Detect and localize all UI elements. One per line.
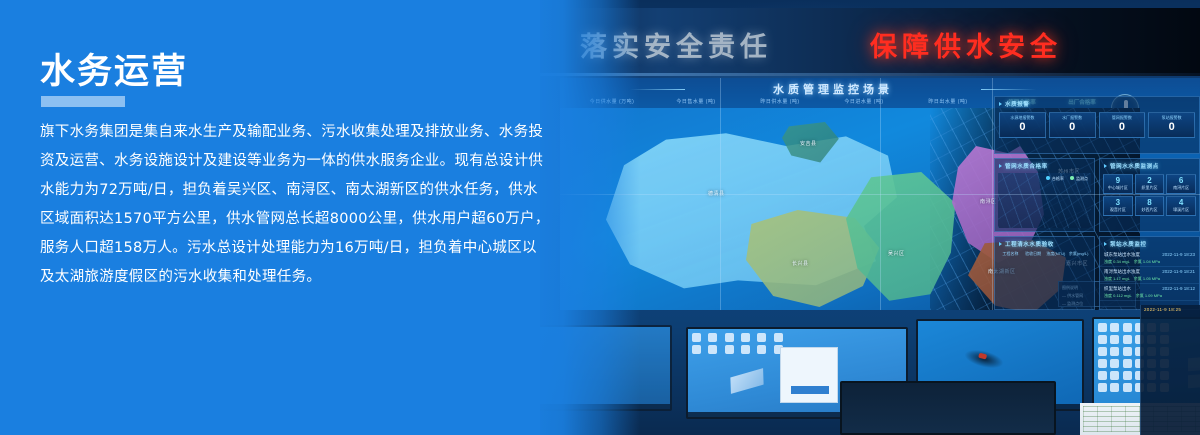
table-column: 浊度(NTU) [1045,251,1068,257]
cell-value: 4 [1167,198,1195,207]
map-label: 安吉县 [800,140,817,147]
alarm-card-value: 0 [1149,121,1194,134]
log-metric-2: 余氯 1.05 MPa [1134,276,1160,282]
banner-section: 落实安全责任 保障供水安全 水质管理监控场景 今日供水量 (万吨)— 今日售水量… [0,0,1200,435]
alarm-card-value: 0 [1050,121,1095,134]
cell-value: 8 [1136,198,1164,207]
map-label: 长兴县 [792,260,809,267]
kpi-label: 昨日供水量 (吨) [738,98,822,105]
kpi-label: 今日进水量 (吨) [822,98,906,105]
monitoring-point-cell[interactable]: 3观音片区 [1103,196,1133,216]
log-time: 2022-11-9 18:23 [1162,252,1195,258]
log-metric-1: 浊度 1.17 mgL [1104,276,1130,282]
table-column: 验收日期 [1022,251,1045,257]
panel-title: 管网水水质监测点 [1100,159,1199,172]
log-name: 织里泵站出水 [1104,286,1131,292]
panel-title: 泵站水质监控 [1100,237,1199,250]
cell-label: 南浔片区 [1167,185,1195,191]
laptop-screen [840,381,1056,435]
cell-value: 6 [1167,176,1195,185]
table-column: 工程名称 [999,251,1022,257]
map-label: 德清县 [708,190,725,197]
cell-label: 妙西片区 [1136,207,1164,213]
log-metric-2: 余氯 1.04 MPa [1134,259,1160,265]
desktop-icon-grid [692,333,788,354]
legend-label: 合格率 [1052,176,1064,181]
alarm-card-list: 水源地报警数0 水厂报警数0 管网报警数0 泵站报警数0 [995,110,1199,140]
alarm-card[interactable]: 水源地报警数0 [999,112,1046,138]
alarm-card[interactable]: 泵站报警数0 [1148,112,1195,138]
alarm-card-value: 0 [1100,121,1145,134]
cell-value: 3 [1104,198,1132,207]
banner-slogan-left: 落实安全责任 [580,25,772,64]
monitoring-point-cell[interactable]: 4埭溪片区 [1166,196,1196,216]
video-wall-dashboard: 水质管理监控场景 今日供水量 (万吨)— 今日售水量 (吨)— 昨日供水量 (吨… [560,78,1200,310]
monitoring-point-cell[interactable]: 8妙西片区 [1135,196,1165,216]
table-column: 余氯(mg/L) [1067,251,1090,257]
diver-wallpaper-icon [963,346,1006,371]
cell-label: 埭溪片区 [1167,207,1195,213]
panel-title: 管网水质合格率 [995,159,1094,172]
panel-title: 水质报警 [995,97,1199,110]
page-title: 水务运营 [40,52,188,92]
alarm-card-value: 0 [1000,121,1045,134]
legend-swatch [1070,176,1074,180]
panel-water-quality-alarm: 水质报警 水源地报警数0 水厂报警数0 管网报警数0 泵站报警数0 [994,96,1200,154]
panel-pump-station-monitor: 泵站水质监控 城东泵站出水浊度2022-11-9 18:23 浊度 0.34 m… [1099,236,1200,310]
control-room-photo: 落实安全责任 保障供水安全 水质管理监控场景 今日供水量 (万吨)— 今日售水量… [540,0,1200,435]
panel-project-acceptance: 工程清水水质验收 工程名称 验收日期 浊度(NTU) 余氯(mg/L) [994,236,1095,310]
cell-value: 2 [1136,176,1164,185]
title-underline [41,96,125,107]
table-header: 工程名称 验收日期 浊度(NTU) 余氯(mg/L) [995,250,1094,258]
dashboard-title: 水质管理监控场景 [688,81,978,97]
log-metric-1: 浊度 0.112 mgL [1104,293,1132,299]
kpi-label: 昨日出水量 (吨) [906,98,990,105]
panel-pipeline-pass-rate: 管网水质合格率 合格率 监测点 [994,158,1095,232]
text-column: 水务运营 旗下水务集团是集自来水生产及输配业务、污水收集处理及排放业务、水务投资… [0,0,600,435]
alarm-card[interactable]: 水厂报警数0 [1049,112,1096,138]
log-time: 2022-11-9 18:12 [1162,286,1195,292]
log-name: 南浔泵站出水浊度 [1104,269,1140,275]
log-name: 城东泵站出水浊度 [1104,252,1140,258]
dashboard-panels: 水质报警 水源地报警数0 水厂报警数0 管网报警数0 泵站报警数0 管网水质合格… [994,96,1200,310]
log-row[interactable]: 南浔泵站出水浊度2022-11-9 18:21 浊度 1.17 mgL余氯 1.… [1100,267,1199,284]
monitoring-point-grid: 9中心城片区 2织里片区 6南浔片区 3观音片区 8妙西片区 4埭溪片区 [1100,172,1199,218]
chart-legend: 合格率 监测点 [1041,176,1088,182]
log-metric-1: 浊度 0.34 mgL [1104,259,1130,265]
alarm-card[interactable]: 管网报警数0 [1099,112,1146,138]
kpi-label: 今日售水量 (吨) [654,98,738,105]
log-metric-2: 余氯 1.09 MPa [1136,293,1162,299]
log-time: 2022-11-9 18:21 [1162,269,1195,275]
body-paragraph: 旗下水务集团是集自来水生产及输配业务、污水收集处理及排放业务、水务投资及运营、水… [40,118,550,292]
log-row[interactable]: 城东泵站出水浊度2022-11-9 18:23 浊度 0.34 mgL余氯 1.… [1100,250,1199,267]
cell-label: 织里片区 [1136,185,1164,191]
app-logo-icon [730,368,763,394]
dialog-window[interactable] [780,347,838,403]
panel-monitoring-points: 管网水水质监测点 9中心城片区 2织里片区 6南浔片区 3观音片区 8妙西片区 … [1099,158,1200,232]
map-label: 吴兴区 [888,250,905,257]
log-row[interactable]: 织里泵站出水2022-11-9 18:12 浊度 0.112 mgL余氯 1.0… [1100,284,1199,301]
desk-monitor-row: 2022-11-9 18:25 [540,307,1200,435]
panel-title: 工程清水水质验收 [995,237,1094,250]
cell-value: 9 [1104,176,1132,185]
banner-slogan-right: 保障供水安全 [870,25,1062,64]
cell-label: 中心城片区 [1104,185,1132,191]
legend-swatch [1046,176,1050,180]
side-wall-screen: 2022-11-9 18:25 [1140,305,1200,435]
monitoring-point-cell[interactable]: 9中心城片区 [1103,174,1133,194]
led-banner: 落实安全责任 保障供水安全 [540,8,1200,76]
legend-label: 监测点 [1076,176,1088,181]
monitoring-point-cell[interactable]: 6南浔片区 [1166,174,1196,194]
side-screen-timestamp: 2022-11-9 18:25 [1141,305,1200,314]
cell-label: 观音片区 [1104,207,1132,213]
monitoring-point-cell[interactable]: 2织里片区 [1135,174,1165,194]
